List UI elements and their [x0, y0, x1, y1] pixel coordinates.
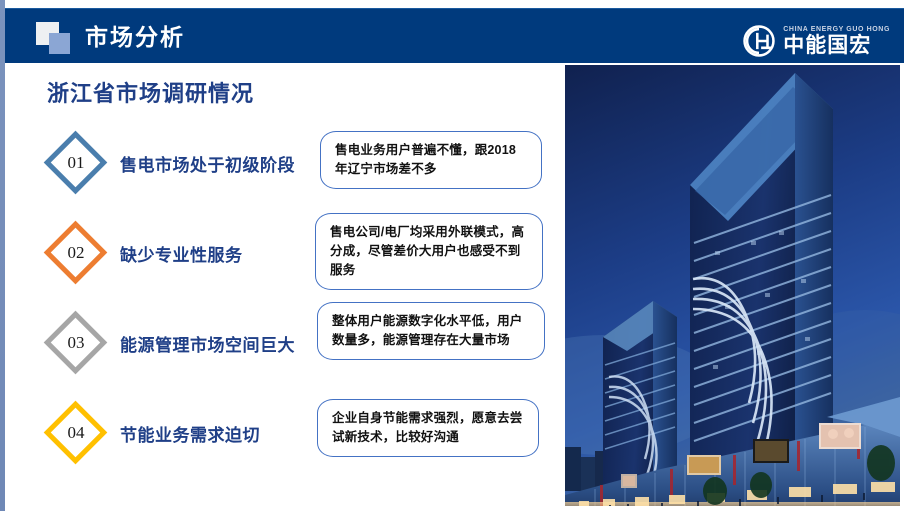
list-item: 02 缺少专业性服务 售电公司/电厂均采用外联模式，高分成，尽管差价大用户也感受…	[0, 210, 565, 300]
section-title: 浙江省市场调研情况	[47, 76, 254, 108]
finding-note: 售电公司/电厂均采用外联模式，高分成，尽管差价大用户也感受不到服务	[315, 213, 543, 290]
finding-note: 整体用户能源数字化水平低，用户数量多，能源管理存在大量市场	[317, 302, 545, 360]
list-item: 03 能源管理市场空间巨大 整体用户能源数字化水平低，用户数量多，能源管理存在大…	[0, 300, 565, 390]
diamond-number: 02	[45, 222, 107, 284]
page-title: 市场分析	[85, 21, 185, 53]
diamond-badge-03: 03	[45, 312, 107, 374]
diamond-badge-04: 04	[45, 402, 107, 464]
finding-note: 企业自身节能需求强烈，愿意去尝试新技术，比较好沟通	[317, 399, 539, 457]
list-item: 04 节能业务需求迫切 企业自身节能需求强烈，愿意去尝试新技术，比较好沟通	[0, 390, 565, 480]
diamond-number: 04	[45, 402, 107, 464]
finding-label: 缺少专业性服务	[120, 222, 243, 284]
diamond-badge-02: 02	[45, 222, 107, 284]
finding-note: 售电业务用户普遍不懂，跟2018年辽宁市场差不多	[320, 131, 542, 189]
findings-list: 01 售电市场处于初级阶段 售电业务用户普遍不懂，跟2018年辽宁市场差不多 0…	[0, 120, 565, 480]
squares-logo-icon	[36, 22, 76, 54]
logo-english-text: CHINA ENERGY GUO HONG	[783, 25, 890, 34]
guohong-emblem-icon	[742, 24, 776, 58]
logo-chinese-text: 中能国宏	[783, 34, 890, 58]
building-render-photo	[565, 65, 900, 506]
slide: 市场分析 CHINA ENERGY GUO HONG 中能国宏 浙江省市场调研情…	[0, 0, 904, 511]
finding-label: 售电市场处于初级阶段	[120, 132, 295, 194]
finding-label: 能源管理市场空间巨大	[120, 312, 295, 374]
diamond-number: 01	[45, 132, 107, 194]
building-render-svg	[565, 65, 900, 506]
list-item: 01 售电市场处于初级阶段 售电业务用户普遍不懂，跟2018年辽宁市场差不多	[0, 120, 565, 210]
finding-label: 节能业务需求迫切	[120, 402, 260, 464]
diamond-number: 03	[45, 312, 107, 374]
company-logo: CHINA ENERGY GUO HONG 中能国宏	[742, 21, 890, 61]
header-bar: 市场分析 CHINA ENERGY GUO HONG 中能国宏	[5, 8, 904, 63]
diamond-badge-01: 01	[45, 132, 107, 194]
